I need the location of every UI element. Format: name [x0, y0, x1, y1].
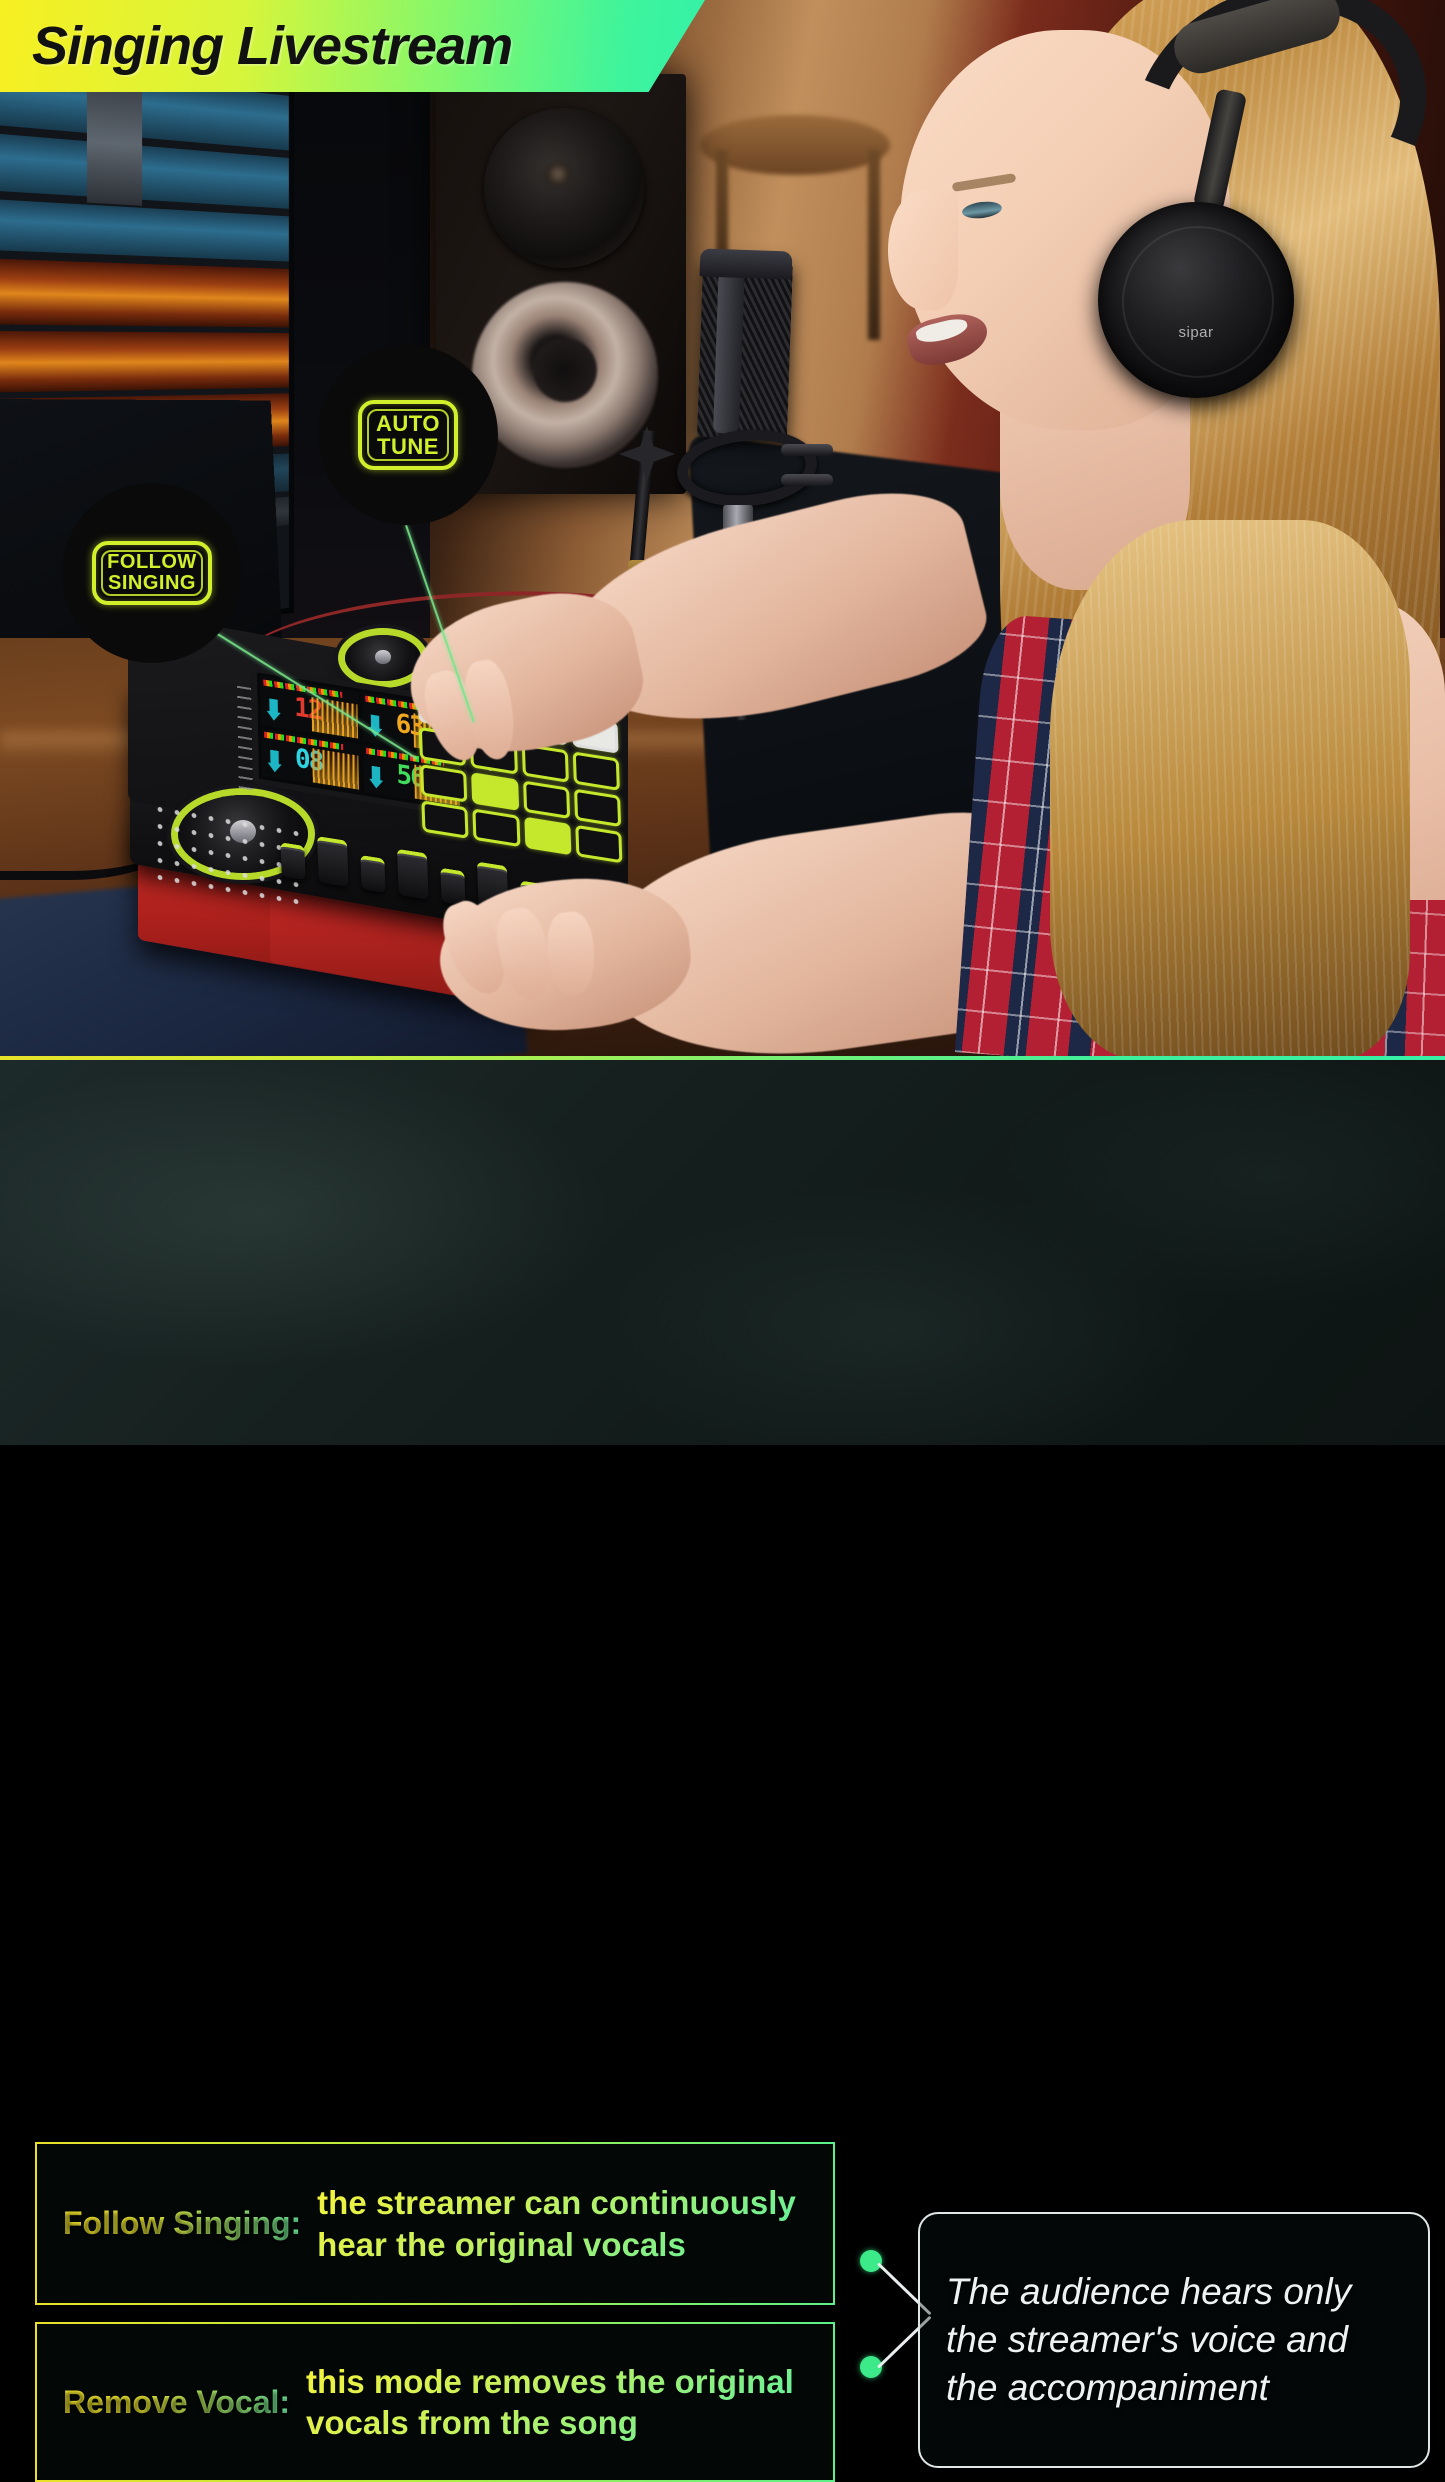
callout-line-2: TUNE: [377, 434, 439, 459]
mixer-pad[interactable]: [574, 788, 621, 827]
audience-note-text: The audience hears only the streamer's v…: [946, 2268, 1402, 2412]
stool-seat: [700, 115, 890, 175]
mixer-knob[interactable]: [440, 868, 465, 906]
headphone-earcup: sipar: [1098, 202, 1294, 398]
mic-shock-mount: [655, 400, 835, 520]
hair-strands: [1050, 520, 1410, 1058]
speaker-woofer: [472, 282, 658, 468]
callout-auto-tune-label: AUTO TUNE: [358, 400, 458, 470]
speaker-tweeter: [484, 108, 644, 268]
microphone-cap: [700, 248, 793, 279]
mixer-knob[interactable]: [360, 855, 385, 893]
callout-auto-tune[interactable]: AUTO TUNE: [318, 345, 498, 525]
product-marketing-image: 12 63 08 56 G3 MI: [0, 0, 1445, 1445]
eye: [961, 200, 1003, 221]
mixer-knob[interactable]: [397, 849, 429, 900]
info-box-audience: The audience hears only the streamer's v…: [918, 2212, 1430, 2468]
connector-dot-follow-singing: [860, 2250, 882, 2272]
info-label-remove-vocal: Remove Vocal:: [63, 2384, 290, 2421]
headphone-brand-label: sipar: [1098, 324, 1294, 341]
callout-line-1: AUTO: [376, 411, 440, 436]
info-body-follow-singing: the streamer can continuously hear the o…: [317, 2182, 807, 2265]
jog-wheel-top[interactable]: [345, 635, 421, 681]
mixer-scale-markings: [237, 686, 253, 797]
title-banner: Singing Livestream: [0, 0, 705, 92]
mixer-knob[interactable]: [280, 842, 305, 880]
callout-line-2: SINGING: [108, 572, 196, 594]
mixer-pad[interactable]: [523, 780, 570, 819]
info-label-follow-singing: Follow Singing:: [63, 2205, 301, 2242]
mixer-pad[interactable]: [573, 752, 620, 791]
callout-follow-singing[interactable]: FOLLOW SINGING: [62, 483, 242, 663]
mixer-pad[interactable]: [420, 764, 467, 803]
hero-photo: 12 63 08 56 G3 MI: [0, 0, 1445, 1058]
callout-line-1: FOLLOW: [107, 551, 197, 573]
info-body-remove-vocal: this mode removes the original vocals fr…: [306, 2361, 807, 2444]
mixer-pad[interactable]: [471, 772, 518, 811]
info-box-remove-vocal: Remove Vocal: this mode removes the orig…: [35, 2322, 835, 2482]
callout-follow-singing-label: FOLLOW SINGING: [92, 541, 212, 605]
info-box-follow-singing: Follow Singing: the streamer can continu…: [35, 2142, 835, 2305]
mixer-knob[interactable]: [317, 836, 349, 887]
info-panel: Follow Singing: the streamer can continu…: [0, 1060, 1445, 1445]
stool-leg: [868, 150, 880, 340]
eyebrow: [952, 173, 1017, 192]
page-title: Singing Livestream: [32, 15, 512, 77]
